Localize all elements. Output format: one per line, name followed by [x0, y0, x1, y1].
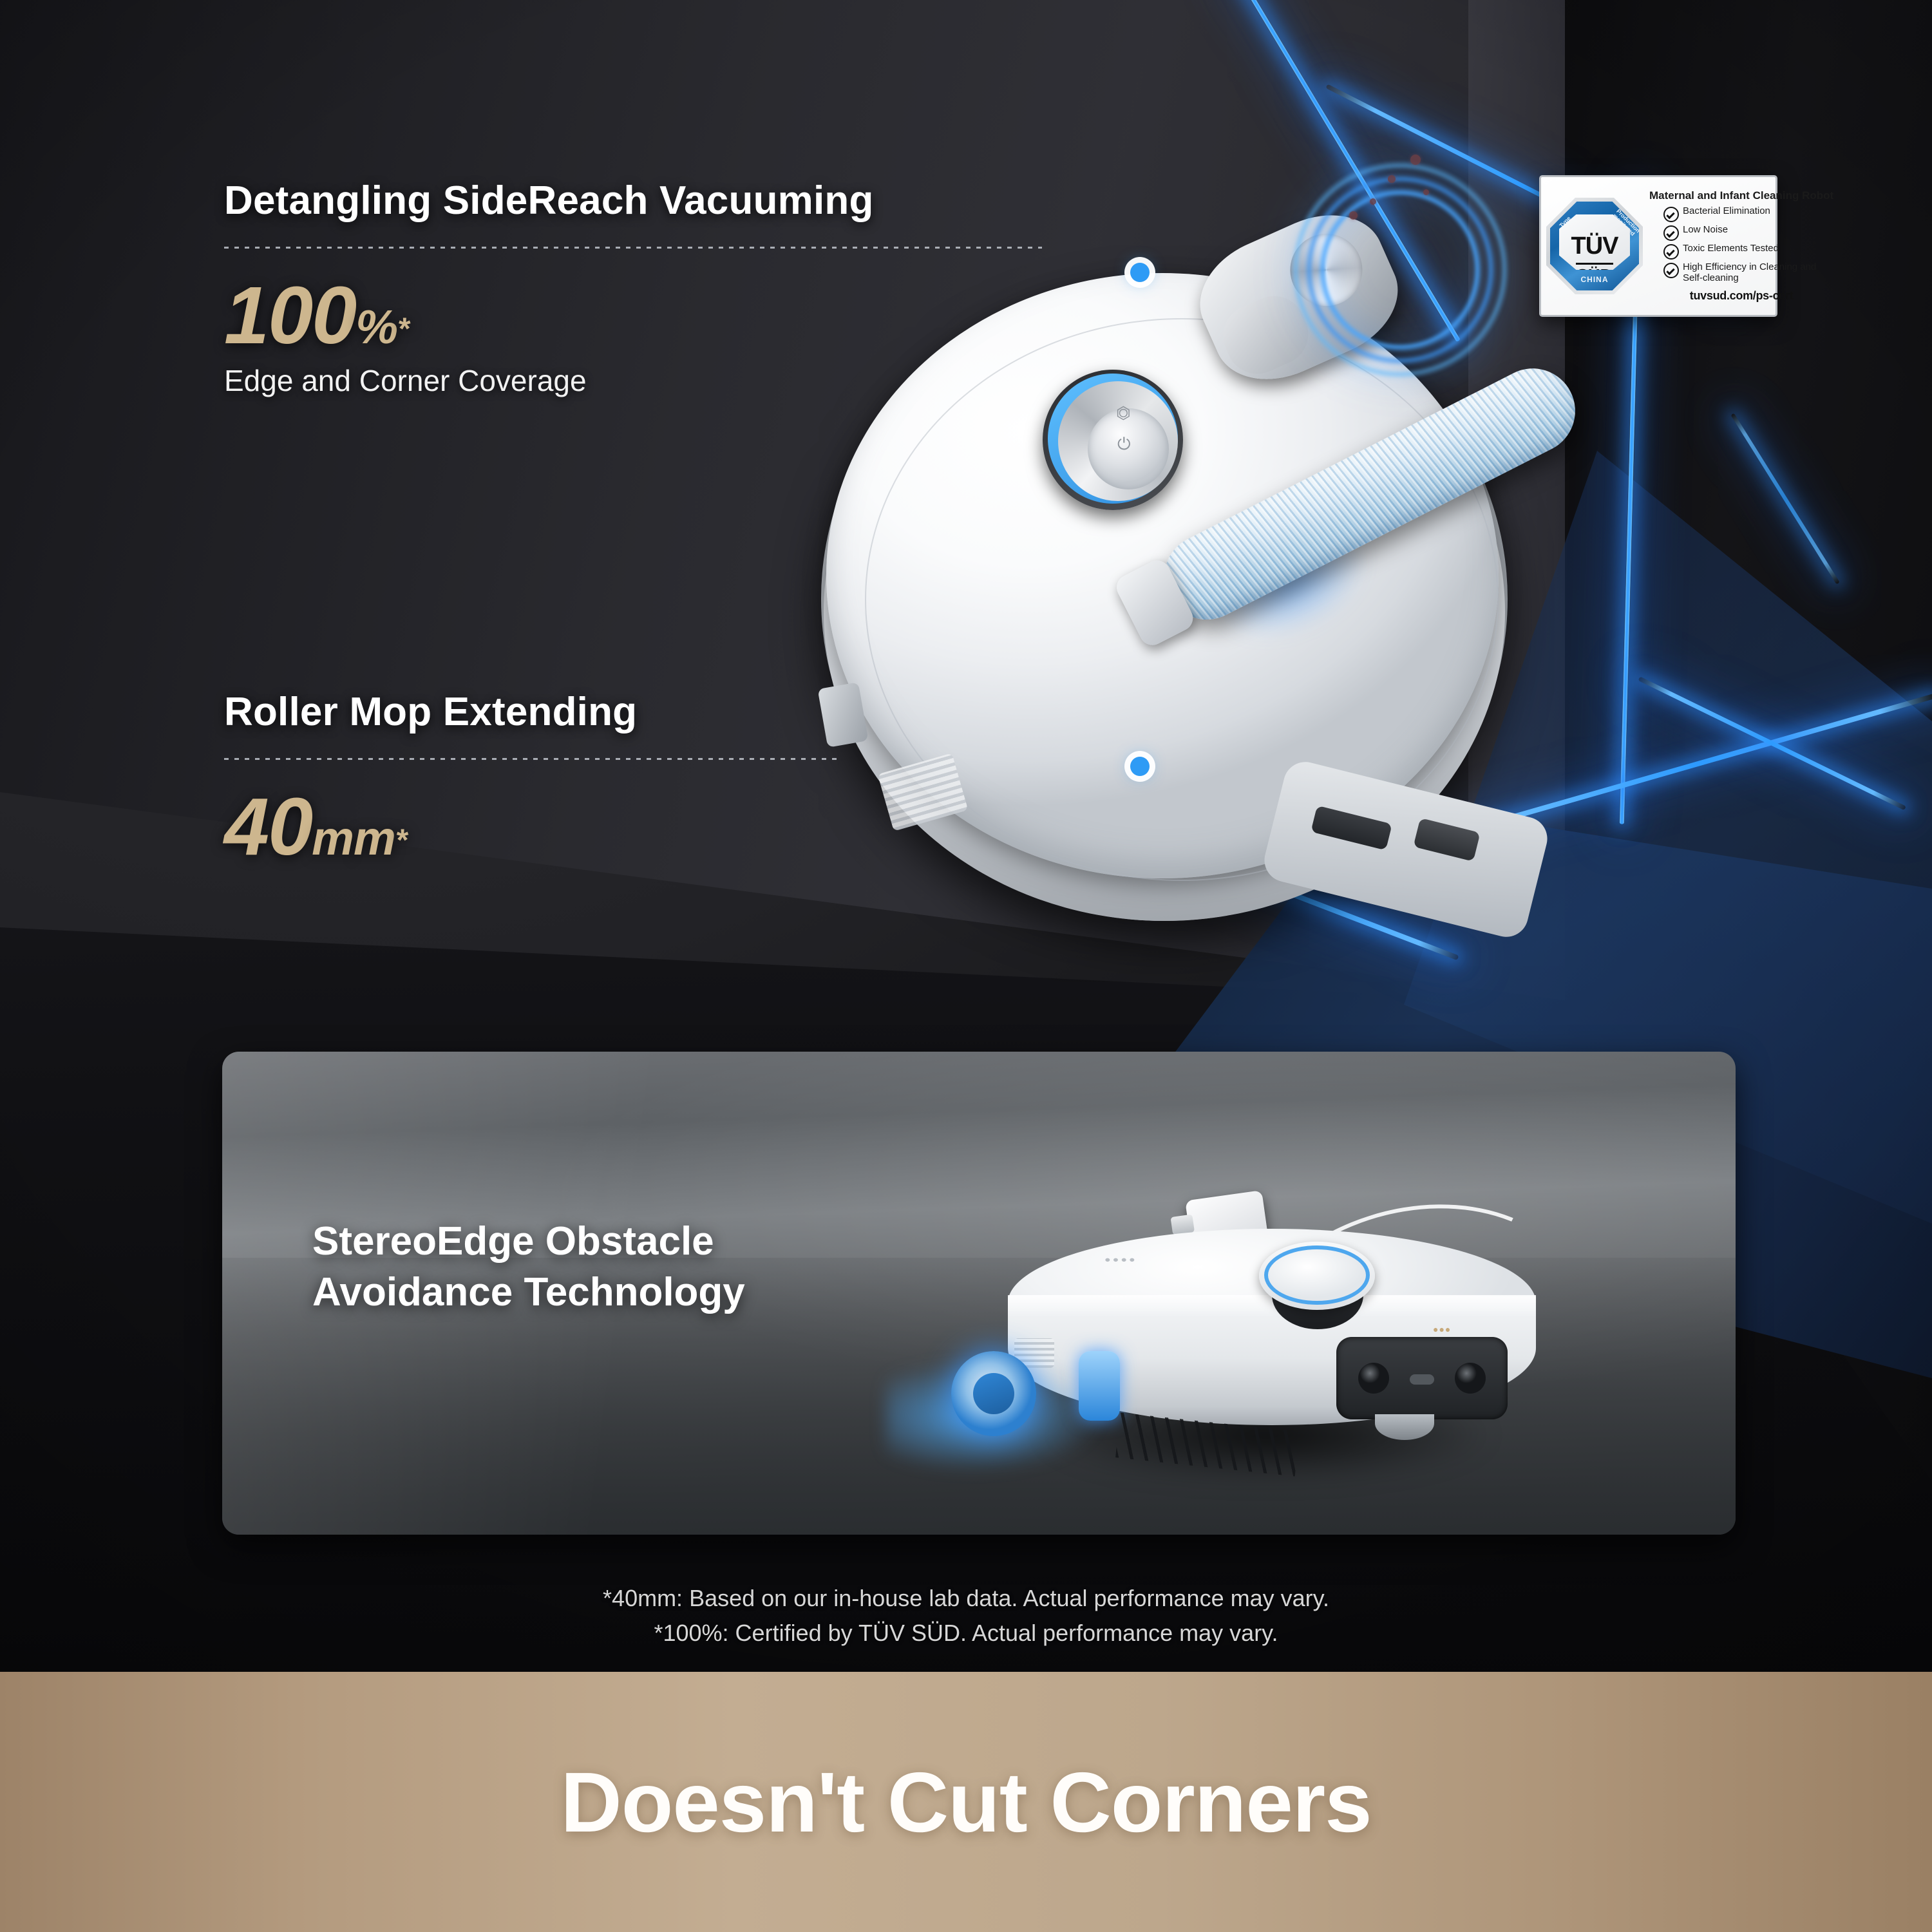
check-icon	[1663, 225, 1679, 241]
tuv-list-item: Low Noise	[1663, 225, 1833, 241]
product-marketing-page: ⏣ ⏻ Detang	[0, 0, 1932, 1932]
robot-brand-mark: ●●●●	[1104, 1256, 1137, 1265]
check-icon	[1663, 263, 1679, 278]
stat-asterisk: *	[397, 312, 410, 346]
tuv-logo-main-text: TÜV	[1559, 234, 1630, 258]
debris-particle	[1349, 211, 1358, 220]
robot-model-mark: ●●●	[1433, 1324, 1451, 1334]
robot-dust-port	[1311, 806, 1392, 851]
stereoedge-feature-card: ●●●● ●●● StereoEdge Obstacle	[222, 1052, 1736, 1535]
side-brush-assembly	[951, 1351, 1036, 1436]
debris-particle	[1388, 175, 1396, 183]
card-title-line-1: StereoEdge Obstacle	[312, 1216, 745, 1267]
stat-unit: mm	[312, 811, 395, 865]
tuv-country-label: CHINA	[1550, 275, 1639, 284]
power-button-icon[interactable]: ⏻	[1117, 434, 1131, 455]
tuv-sud-certification-badge: Type tested Production monitored CHINA T…	[1539, 175, 1777, 317]
tuv-badge-body: Maternal and Infant Cleaning Robot Bacte…	[1643, 189, 1833, 303]
banner-headline: Doesn't Cut Corners	[560, 1754, 1371, 1851]
side-sensor-pad	[1079, 1351, 1120, 1421]
tuv-item-label: High Efficiency in Cleaning and Self-cle…	[1683, 262, 1833, 284]
feature-stat: 100%*	[224, 277, 1042, 354]
bottom-banner: Doesn't Cut Corners	[0, 1672, 1932, 1932]
check-icon	[1663, 244, 1679, 260]
feature-title: Roller Mop Extending	[224, 689, 842, 735]
feature-divider	[224, 758, 842, 760]
debris-particle	[1410, 155, 1421, 165]
tuv-octagon-logo: Type tested Production monitored CHINA T…	[1546, 198, 1643, 294]
tuv-heading: Maternal and Infant Cleaning Robot	[1649, 189, 1833, 202]
footnote-line: *40mm: Based on our in-house lab data. A…	[0, 1581, 1932, 1616]
stat-value: 40	[224, 781, 312, 872]
tuv-octagon-core: TÜV SÜD	[1559, 214, 1630, 270]
stat-asterisk: *	[395, 824, 408, 858]
tuv-item-label: Low Noise	[1683, 225, 1728, 236]
feature-block-vacuuming: Detangling SideReach Vacuuming 100%* Edg…	[224, 178, 1042, 398]
feature-divider	[224, 247, 1042, 249]
robot-vacuum-side-view: ●●●● ●●●	[924, 1158, 1620, 1519]
debris-particle	[1370, 198, 1376, 205]
debris-particle	[1423, 189, 1429, 195]
lidar-metal-face: ⏣ ⏻	[1058, 381, 1178, 501]
footnote-line: *100%: Certified by TÜV SÜD. Actual perf…	[0, 1616, 1932, 1651]
home-button-icon[interactable]: ⏣	[1116, 403, 1131, 423]
feature-subtitle: Edge and Corner Coverage	[224, 363, 1042, 398]
robot-charge-contact	[1413, 818, 1480, 862]
lidar-blue-ring-side	[1264, 1245, 1370, 1305]
stereo-camera-module	[1336, 1337, 1508, 1419]
stat-value: 100	[224, 270, 355, 361]
tuv-list-item: Toxic Elements Tested	[1663, 243, 1833, 260]
feature-title: Detangling SideReach Vacuuming	[224, 178, 1042, 223]
check-icon	[1663, 207, 1679, 222]
camera-lens-left-icon	[1358, 1363, 1389, 1394]
tuv-list-item: High Efficiency in Cleaning and Self-cle…	[1663, 262, 1833, 284]
card-title-line-2: Avoidance Technology	[312, 1267, 745, 1318]
stat-unit: %	[355, 300, 397, 354]
lidar-turret-side	[1259, 1242, 1375, 1310]
side-brush-hub	[973, 1373, 1014, 1414]
lidar-blue-ring: ⏣ ⏻	[1048, 374, 1178, 504]
hotspot-marker-mop	[1130, 757, 1150, 776]
feature-block-mop: Roller Mop Extending 40mm*	[224, 689, 842, 866]
robot-lidar-turret: ⏣ ⏻	[1043, 370, 1183, 510]
camera-lens-right-icon	[1455, 1363, 1486, 1394]
footnotes: *40mm: Based on our in-house lab data. A…	[0, 1581, 1932, 1651]
tuv-list-item: Bacterial Elimination	[1663, 206, 1833, 222]
ir-emitter-icon	[1410, 1374, 1434, 1385]
tuv-logo-rule	[1576, 263, 1613, 265]
tuv-url[interactable]: tuvsud.com/ps-cert	[1649, 289, 1833, 303]
tuv-item-label: Bacterial Elimination	[1683, 206, 1770, 217]
hotspot-marker-vacuum	[1130, 263, 1150, 282]
card-title: StereoEdge Obstacle Avoidance Technology	[312, 1216, 745, 1318]
tuv-item-label: Toxic Elements Tested	[1683, 243, 1779, 254]
feature-stat: 40mm*	[224, 788, 842, 866]
